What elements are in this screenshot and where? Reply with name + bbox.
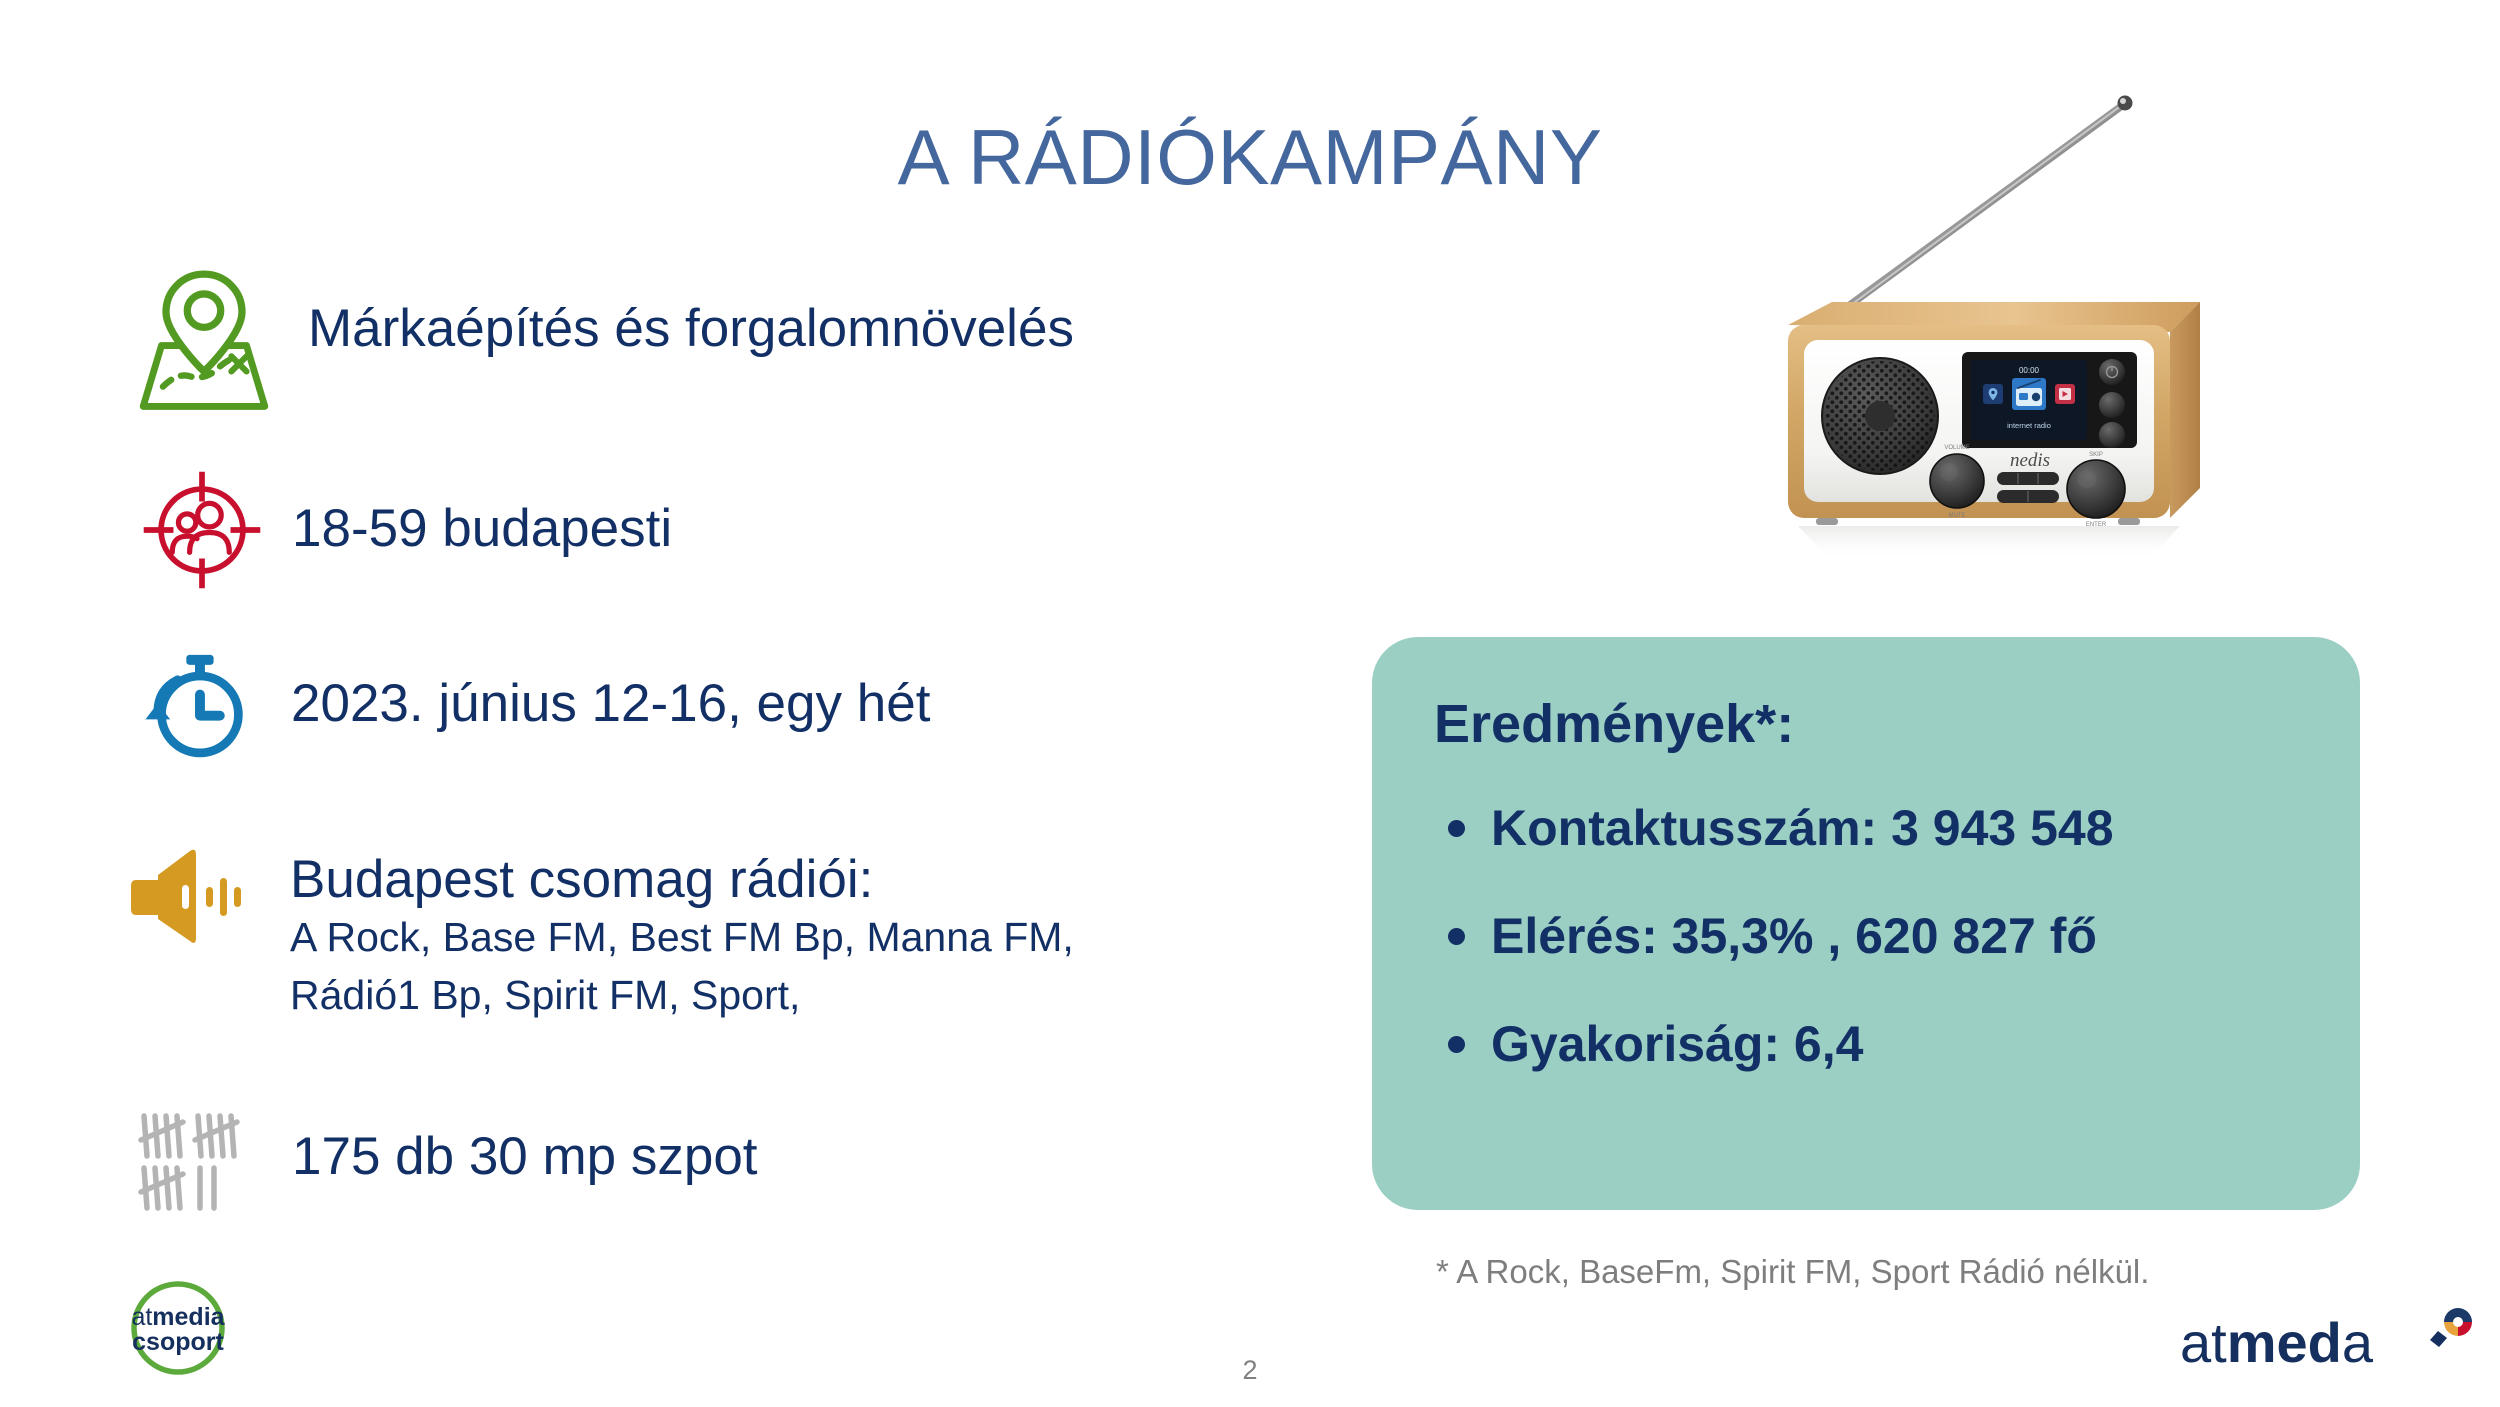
- footnote-text: * A Rock, BaseFm, Spirit FM, Sport Rádió…: [1436, 1253, 2149, 1291]
- atmedia-csoport-logo: atmedia csoport: [98, 1272, 258, 1384]
- atmedia-pinwheel-icon: [2444, 1308, 2472, 1336]
- radio-tuning-knob: [2067, 460, 2125, 518]
- target-audience-icon: [140, 468, 264, 597]
- radio-volume-knob: [1930, 454, 1984, 508]
- bullet-label-campaign-period: 2023. június 12-16, egy hét: [291, 674, 930, 733]
- station-list-line-2: Rádió1 Bp, Spirit FM, Sport,: [290, 972, 800, 1018]
- result-item-contacts: Kontaktusszám: 3 943 548: [1434, 800, 2312, 856]
- bullet-row-brand-building: Márkaépítés és forgalomnövelés: [128, 262, 1074, 419]
- svg-text:SKIP: SKIP: [2089, 452, 2103, 458]
- radio-brand-wordmark: nedis: [2010, 450, 2050, 471]
- bullet-dot-icon: [1448, 820, 1465, 837]
- bullet-text-block: 2023. június 12-16, egy hét: [291, 675, 930, 732]
- radio-display: 00:00 internet radio: [1971, 360, 2087, 440]
- result-label-frequency: Gyakoriság: 6,4: [1491, 1016, 1863, 1072]
- svg-text:VOLUME: VOLUME: [1944, 445, 1969, 451]
- logo-line-2: csoport: [132, 1328, 224, 1356]
- bullet-text-block: Márkaépítés és forgalomnövelés: [308, 300, 1074, 357]
- results-heading: Eredmények*:: [1434, 695, 2312, 754]
- results-panel: Eredmények*: Kontaktusszám: 3 943 548 El…: [1372, 637, 2360, 1210]
- atmedia-logo: atmeda: [2172, 1296, 2500, 1388]
- bullet-label-target-audience: 18-59 budapesti: [292, 499, 672, 558]
- radio-antenna: [1832, 96, 2133, 319]
- svg-text:00:00: 00:00: [2019, 366, 2040, 375]
- map-pin-route-icon: [128, 262, 280, 419]
- svg-text:MUTE: MUTE: [1949, 513, 1966, 519]
- logo-line-1: atmedia: [131, 1303, 225, 1331]
- bullet-text-block: 18-59 budapesti: [292, 500, 672, 557]
- slide-canvas: A RÁDIÓKAMPÁNY Márkaépítés és forgalomnö…: [0, 0, 2500, 1407]
- svg-text:atmeda: atmeda: [2180, 1311, 2374, 1374]
- radio-speaker-grille: [1822, 358, 1938, 474]
- bullet-label-brand-building: Márkaépítés és forgalomnövelés: [308, 299, 1074, 358]
- radio-side-buttons: [2099, 359, 2125, 448]
- bullet-row-target-audience: 18-59 budapesti: [140, 468, 672, 597]
- result-item-frequency: Gyakoriság: 6,4: [1434, 1016, 2312, 1072]
- stopwatch-icon: [133, 645, 257, 774]
- bullet-text-block: 175 db 30 mp szpot: [292, 1128, 758, 1185]
- speaker-volume-icon: [128, 845, 252, 950]
- svg-text:internet radio: internet radio: [2007, 421, 2051, 430]
- result-item-reach: Elérés: 35,3% , 620 827 fő: [1434, 908, 2312, 964]
- bullet-dot-icon: [1448, 928, 1465, 945]
- bullet-row-station-package: Budapest csomag rádiói: A Rock, Base FM,…: [128, 845, 1074, 1025]
- bullet-label-station-package: Budapest csomag rádiói:: [290, 850, 873, 909]
- bullet-label-spot-count: 175 db 30 mp szpot: [292, 1127, 758, 1186]
- bullet-dot-icon: [1448, 1036, 1465, 1053]
- bullet-text-block: Budapest csomag rádiói: A Rock, Base FM,…: [290, 851, 1074, 1025]
- bullet-row-spot-count: 175 db 30 mp szpot: [138, 1110, 758, 1219]
- result-label-reach: Elérés: 35,3% , 620 827 fő: [1491, 908, 2097, 964]
- result-label-contacts: Kontaktusszám: 3 943 548: [1491, 800, 2114, 856]
- station-list-line-1: A Rock, Base FM, Best FM Bp, Manna FM,: [290, 914, 1074, 960]
- radio-product-photo: 00:00 internet radio: [1740, 40, 2360, 660]
- tally-marks-icon: [138, 1110, 246, 1219]
- page-number: 2: [0, 1355, 2500, 1386]
- bullet-row-campaign-period: 2023. június 12-16, egy hét: [133, 645, 930, 774]
